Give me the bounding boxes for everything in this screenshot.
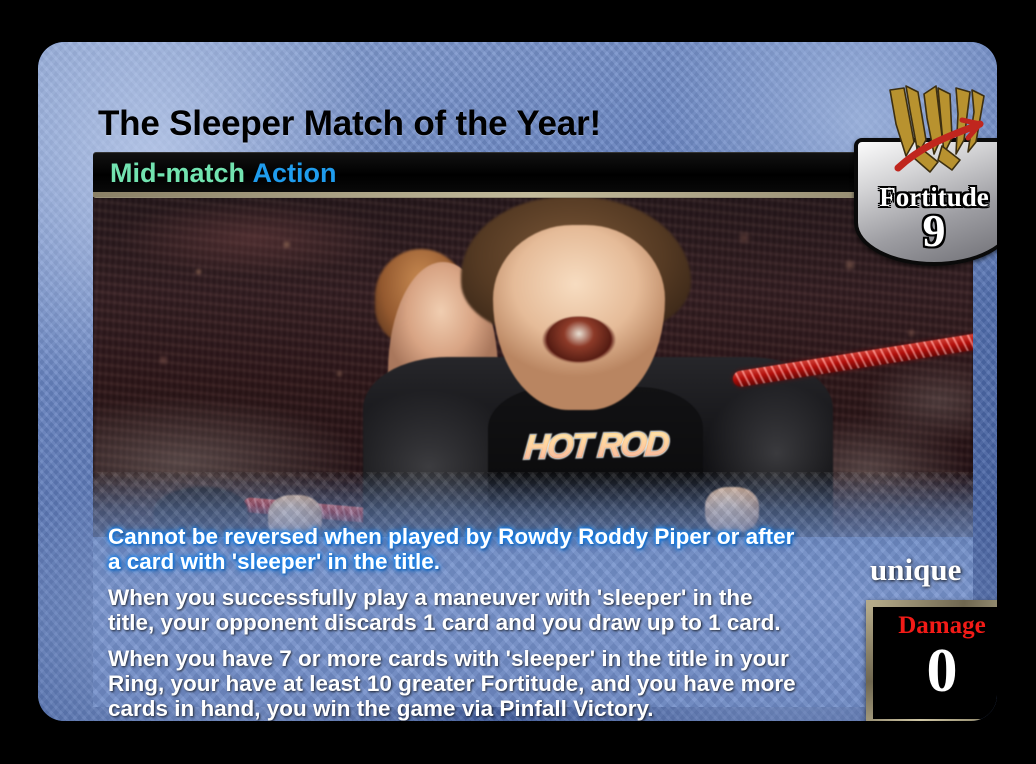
card-subtype-label: Mid-match — [110, 158, 245, 188]
card-text-block: Cannot be reversed when played by Rowdy … — [108, 524, 798, 721]
fortitude-value: 9 — [854, 208, 997, 254]
damage-label: Damage — [873, 613, 997, 638]
card-text-paragraph-2: When you successfully play a maneuver wi… — [108, 585, 798, 635]
shirt-text: HOT ROD — [499, 417, 694, 476]
page-title: The Sleeper Match of the Year! — [98, 106, 601, 141]
card-title-row: The Sleeper Match of the Year! — [98, 100, 798, 146]
unique-label: unique — [870, 554, 961, 585]
wwe-logo-icon — [880, 84, 992, 176]
photo-top-rule — [93, 192, 973, 197]
damage-value: 0 — [873, 640, 997, 702]
damage-box: Damage 0 — [866, 600, 997, 721]
card-category-label: Action — [253, 158, 337, 188]
trading-card: The Sleeper Match of the Year! Mid-match… — [38, 42, 997, 721]
wrestler-mouth — [548, 317, 610, 361]
card-text-paragraph-1: Cannot be reversed when played by Rowdy … — [108, 524, 798, 574]
fortitude-badge: Fortitude 9 — [854, 138, 997, 266]
card-text-paragraph-3: When you have 7 or more cards with 'slee… — [108, 646, 798, 721]
card-type-text: Mid-match Action — [93, 160, 337, 187]
